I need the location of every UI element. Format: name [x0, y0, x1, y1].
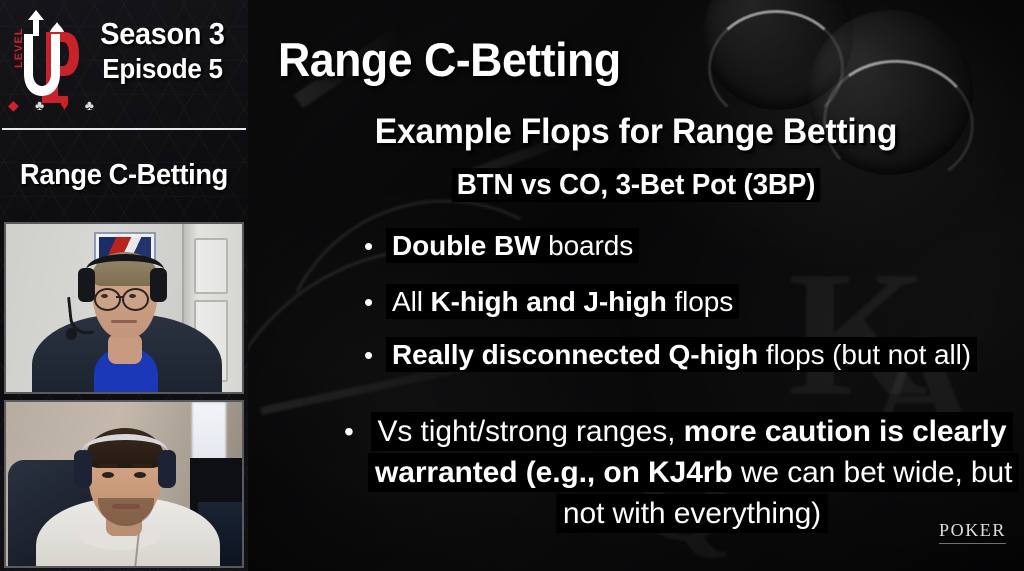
sidebar-divider: [2, 128, 246, 130]
bullet-item-1: • Double BW boards: [364, 228, 964, 264]
webcam-bottom-video: [6, 402, 242, 566]
slide-context-line: BTN vs CO, 3-Bet Pot (3BP): [264, 167, 1009, 203]
poker-watermark: POKER: [939, 520, 1006, 544]
bullet-text-2: All K-high and J-high flops: [386, 284, 964, 320]
bullet-marker-3: •: [364, 337, 386, 373]
slide-title: Range C-Betting: [278, 33, 621, 87]
bullet-2-plain-a: All: [392, 286, 431, 317]
bullet-text-4: Vs tight/strong ranges, more caution is …: [368, 411, 1016, 534]
suit-icons-row: ◆ ♣ ♥ ♣: [8, 98, 94, 112]
sidebar: LEVEL ◆ ♣ ♥ ♣ Season 3 Episode 5 Range C…: [0, 0, 248, 571]
bullet-item-3: • Really disconnected Q-high flops (but …: [364, 337, 1024, 373]
club-icon-2: ♣: [85, 98, 94, 112]
diamond-icon: ◆: [8, 98, 19, 112]
slide-subtitle: Example Flops for Range Betting: [264, 111, 1009, 153]
bullet-text-1: Double BW boards: [386, 228, 964, 264]
bullet-4-plain-a: Vs tight/strong ranges,: [378, 415, 684, 448]
webcam-bottom[interactable]: [4, 400, 244, 568]
bullet-1-bold: Double BW: [392, 230, 540, 261]
season-label: Season 3: [86, 16, 239, 52]
sidebar-topic-label: Range C-Betting: [7, 158, 240, 192]
episode-label: Episode 5: [86, 52, 239, 86]
slide-context-text: BTN vs CO, 3-Bet Pot (3BP): [452, 168, 820, 202]
bullet-2-bold: K-high and J-high: [431, 286, 667, 317]
bullet-marker-2: •: [364, 284, 386, 320]
season-episode-block: Season 3 Episode 5: [80, 16, 245, 86]
webcam-top[interactable]: [4, 222, 244, 394]
heart-icon: ♥: [60, 98, 68, 112]
bullet-text-3: Really disconnected Q-high flops (but no…: [386, 337, 1024, 373]
bullet-marker-4: •: [344, 411, 368, 452]
club-icon: ♣: [35, 98, 44, 112]
bullet-3-plain: flops (but not all): [758, 339, 971, 370]
bullet-item-4: • Vs tight/strong ranges, more caution i…: [344, 411, 1016, 534]
webcam-top-video: [6, 224, 242, 392]
bullet-2-plain-b: flops: [667, 286, 733, 317]
slide-stage: LEVEL ◆ ♣ ♥ ♣ Season 3 Episode 5 Range C…: [0, 0, 1024, 571]
bullet-3-bold: Really disconnected Q-high: [392, 339, 758, 370]
bullet-1-plain: boards: [540, 230, 633, 261]
bullet-item-2: • All K-high and J-high flops: [364, 284, 964, 320]
bullet-marker: •: [364, 228, 386, 264]
svg-text:LEVEL: LEVEL: [13, 28, 25, 68]
slide-panel: K A Q Range C-Betting Example Flops for …: [248, 0, 1024, 571]
